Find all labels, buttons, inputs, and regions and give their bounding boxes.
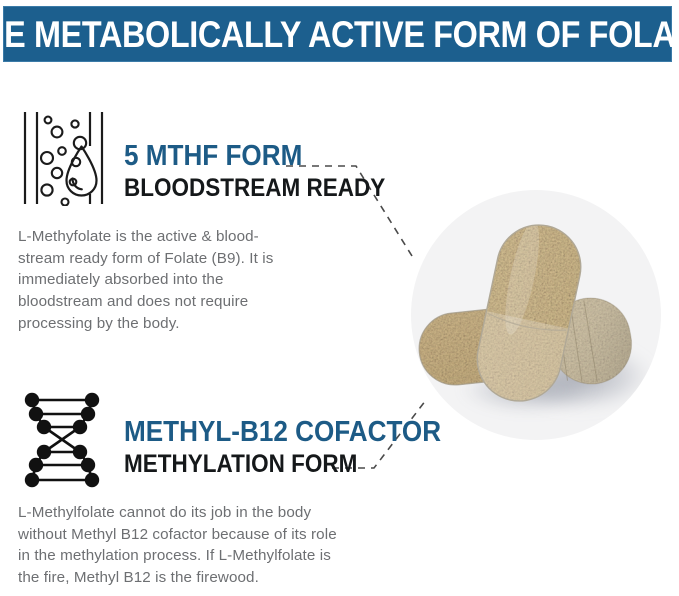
feature-block-mthf: 5 MTHF FORM BLOODSTREAM READY L-Methyfol… <box>18 110 348 335</box>
dna-helix-icon <box>18 392 110 488</box>
feature-subtitle-mthf: BLOODSTREAM READY <box>124 174 385 203</box>
feature-title-b12: METHYL-B12 COFACTOR <box>124 418 441 448</box>
feature-block-b12: METHYL-B12 COFACTOR METHYLATION FORM L-M… <box>18 392 398 589</box>
feature-header-b12: METHYL-B12 COFACTOR METHYLATION FORM <box>18 392 398 484</box>
page-title: THE METABOLICALLY ACTIVE FORM OF FOLATE <box>0 16 679 53</box>
infographic-page: THE METABOLICALLY ACTIVE FORM OF FOLATE <box>0 0 679 596</box>
feature-body-mthf: L-Methyfolate is the active & blood- str… <box>18 226 318 335</box>
feature-body-b12: L-Methylfolate cannot do its job in the … <box>18 502 380 589</box>
feature-title-mthf: 5 MTHF FORM <box>124 142 385 172</box>
feature-header-mthf: 5 MTHF FORM BLOODSTREAM READY <box>18 110 348 206</box>
feature-subtitle-b12: METHYLATION FORM <box>124 450 441 479</box>
header-banner: THE METABOLICALLY ACTIVE FORM OF FOLATE <box>3 6 672 62</box>
feature-titles-mthf: 5 MTHF FORM BLOODSTREAM READY <box>124 142 414 202</box>
product-image-circle <box>411 190 661 440</box>
capsules-photo <box>411 190 661 440</box>
bloodstream-droplet-icon <box>18 110 110 206</box>
